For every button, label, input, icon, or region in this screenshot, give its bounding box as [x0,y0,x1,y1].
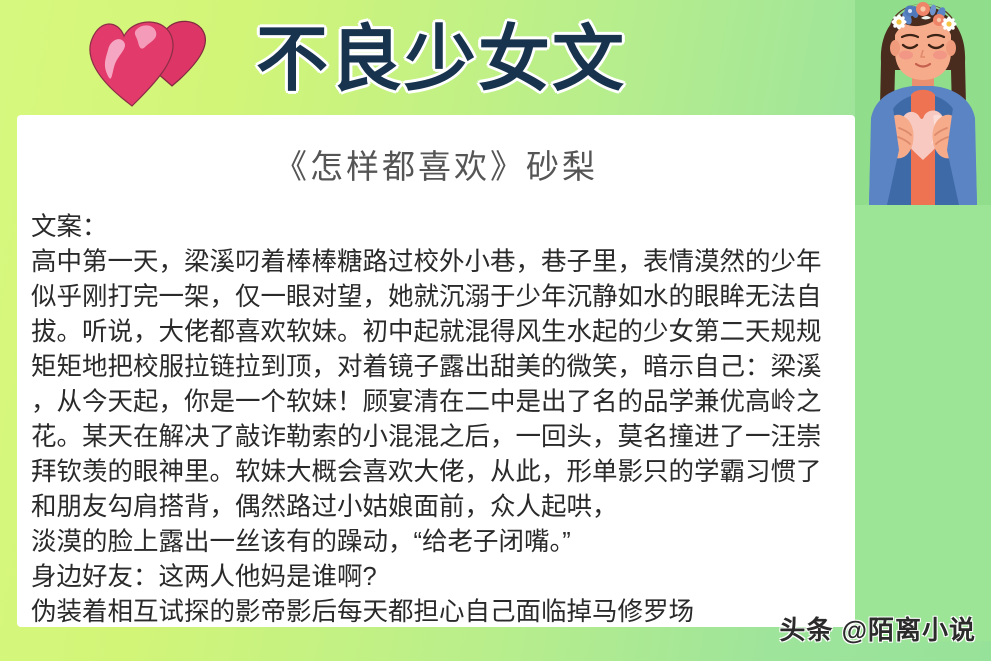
text-line: 文案： [31,210,847,245]
text-line: 花。某天在解决了敲诈勒索的小混混之后，一回头，莫名撞进了一汪崇 [31,420,847,455]
text-line: 和朋友勾肩搭背，偶然路过小姑娘面前，众人起哄， [31,490,847,525]
double-hearts-icon [88,14,216,110]
text-line: ，从今天起，你是一个软妹！顾宴清在二中是出了名的品学兼优高岭之 [31,385,847,420]
side-green-block [855,205,991,641]
page-title: 不良少女文 [256,14,626,106]
text-line: 身边好友：这两人他妈是谁啊? [31,560,847,595]
text-line: 似乎刚打完一架，仅一眼对望，她就沉溺于少年沉静如水的眼眸无法自 [31,280,847,315]
text-line: 拔。听说，大佬都喜欢软妹。初中起就混得风生水起的少女第二天规规 [31,315,847,350]
text-line: 高中第一天，梁溪叼着棒棒糖路过校外小巷，巷子里，表情漠然的少年 [31,245,847,280]
synopsis-text: 文案： 高中第一天，梁溪叼着棒棒糖路过校外小巷，巷子里，表情漠然的少年 似乎刚打… [17,188,855,630]
poster-root: 不良少女文 《怎样都喜欢》砂梨 文案： 高中第一天，梁溪叼着棒棒糖路过校外小巷，… [0,0,991,661]
watermark: 头条 @陌离小说 [779,615,976,645]
text-line: 拜钦羡的眼神里。软妹大概会喜欢大佬，从此，形单影只的学霸习惯了 [31,455,847,490]
text-line: 矩矩地把校服拉链拉到顶，对着镜子露出甜美的微笑，暗示自己：梁溪 [31,350,847,385]
text-line: 淡漠的脸上露出一丝该有的躁动，“给老子闭嘴。” [31,525,847,560]
woman-illustration [855,0,991,205]
poster-header: 不良少女文 [0,0,991,115]
text-line: 伪装着相互试探的影帝影后每天都担心自己面临掉马修罗场 [31,595,847,630]
novel-title: 《怎样都喜欢》砂梨 [17,115,855,188]
content-card: 《怎样都喜欢》砂梨 文案： 高中第一天，梁溪叼着棒棒糖路过校外小巷，巷子里，表情… [17,115,855,627]
